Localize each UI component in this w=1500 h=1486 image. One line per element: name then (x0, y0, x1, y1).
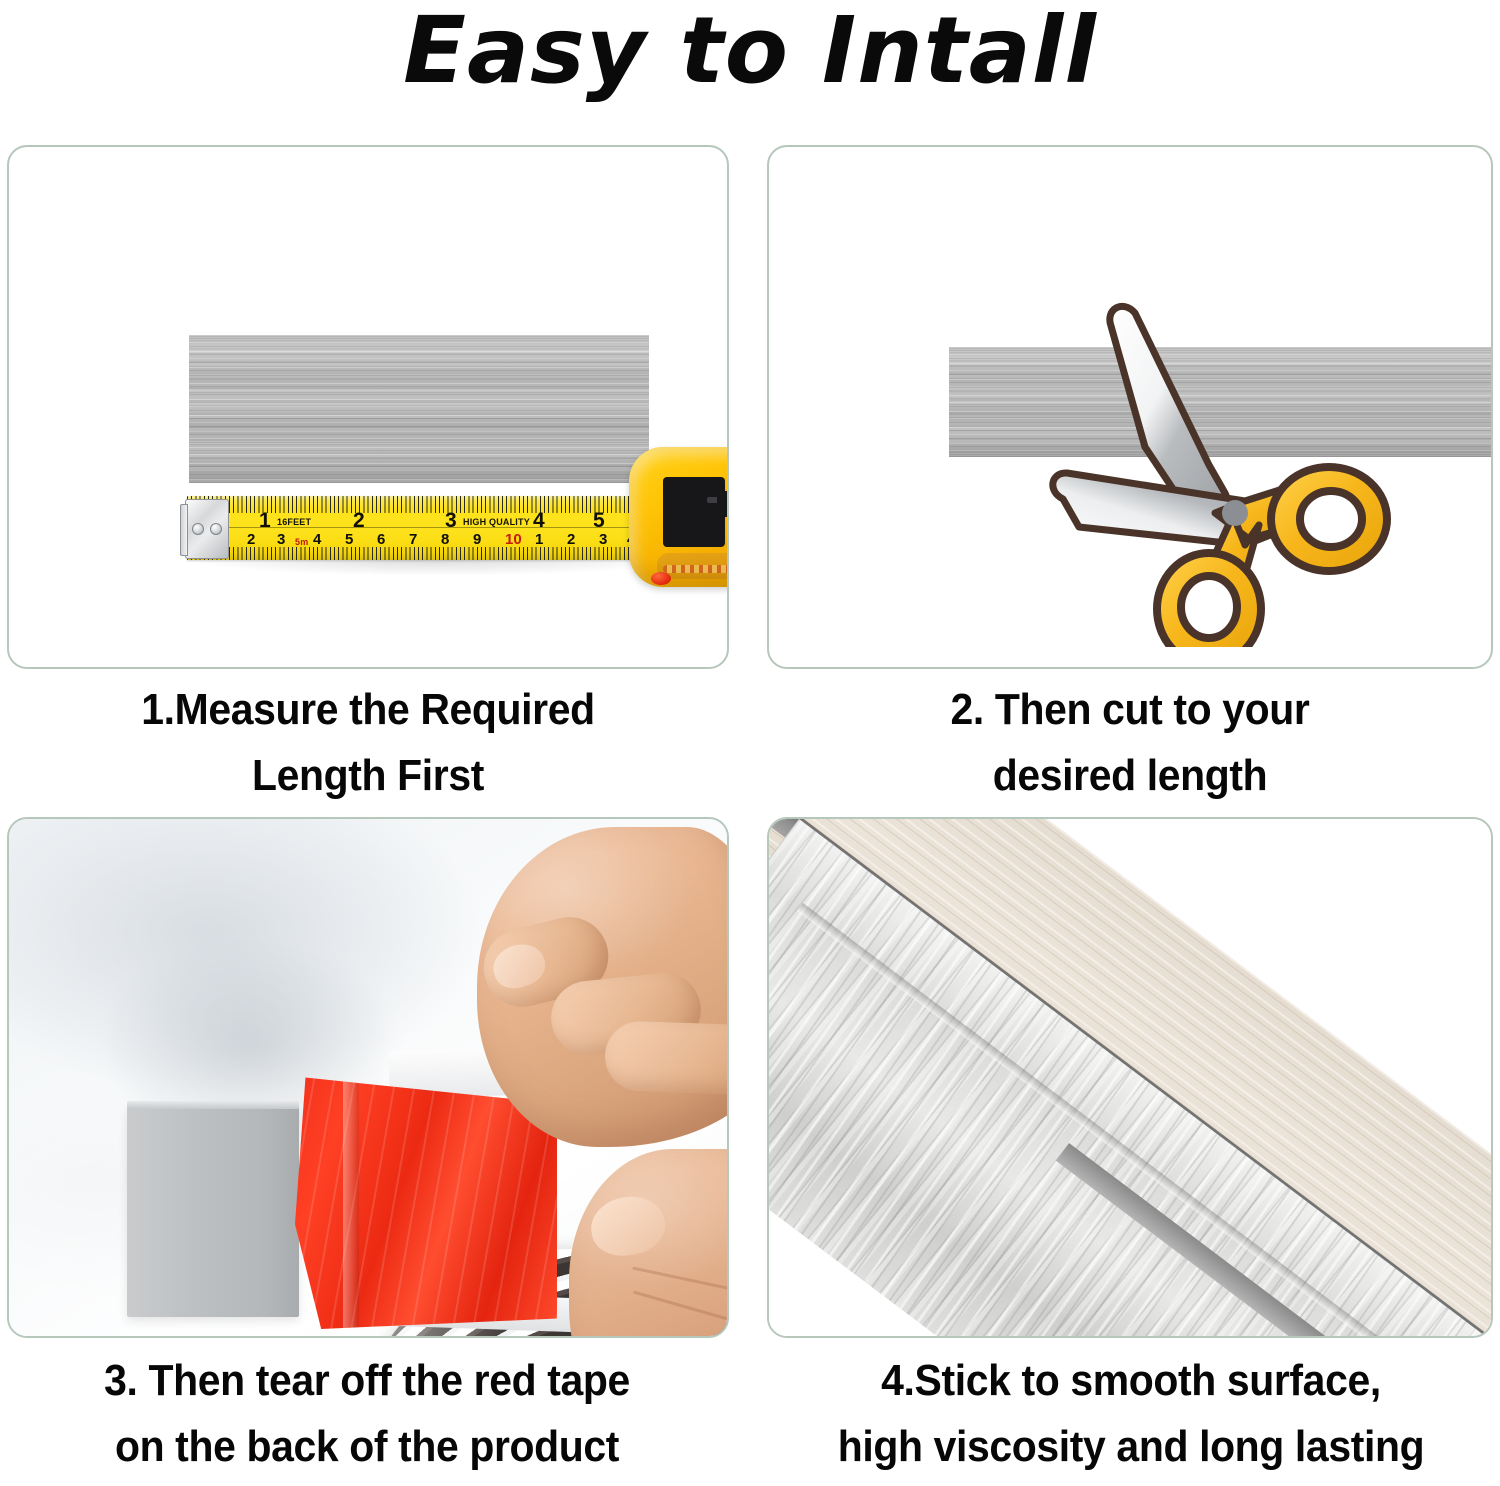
scissors-icon (1049, 287, 1399, 647)
step-4-caption-line-2: high viscosity and long lasting (793, 1414, 1468, 1480)
step-1-caption-line-2: Length First (35, 743, 701, 809)
inch-tick-3: 3 (445, 510, 457, 531)
strip-top-edge (127, 1101, 299, 1109)
thumbnail-lower (587, 1191, 670, 1261)
cm-tick-11: 1 (535, 532, 543, 547)
wood-grain-strip-1 (189, 335, 649, 483)
stick-step-panel (767, 817, 1493, 1338)
step-3-caption-line-1: 3. Then tear off the red tape (104, 1356, 630, 1405)
tape-lock-lever (663, 477, 725, 547)
cm-tick-12: 2 (567, 532, 575, 547)
hook-lip (180, 504, 188, 556)
cm-tick-9: 9 (473, 532, 481, 547)
hand-lower (569, 1149, 729, 1338)
lock-notch (707, 497, 729, 503)
inch-tick-1: 1 (259, 510, 271, 531)
cm-tick-10: 10 (505, 532, 522, 547)
step-2-caption: 2. Then cut to your desired length (795, 677, 1465, 809)
peel-photo (9, 819, 727, 1336)
step-4-caption: 4.Stick to smooth surface, high viscosit… (793, 1348, 1468, 1480)
step-2-caption-line-1: 2. Then cut to your (951, 685, 1310, 734)
inch-tick-4: 4 (533, 510, 545, 531)
step-4-caption-line-1: 4.Stick to smooth surface, (881, 1356, 1381, 1405)
hook-rivet-2 (210, 523, 222, 535)
cm-tick-7: 7 (409, 532, 417, 547)
liner-fold-crease (343, 1067, 359, 1329)
step-3-caption: 3. Then tear off the red tape on the bac… (33, 1348, 701, 1480)
tape-metric-label: 5m (295, 538, 308, 547)
step-1-caption-line-1: 1.Measure the Required (141, 685, 594, 734)
tape-measure-end-hook (185, 499, 229, 559)
cm-tick-4: 4 (313, 532, 321, 547)
cm-tick-8: 8 (441, 532, 449, 547)
tape-measure-housing (629, 447, 729, 587)
grey-adhesive-strip (127, 1107, 299, 1317)
hand-crease-2 (633, 1291, 729, 1327)
step-3-caption-line-2: on the back of the product (33, 1414, 701, 1480)
cm-tick-13: 3 (599, 532, 607, 547)
tape-brand-feet-label: 16FEET (277, 518, 311, 527)
stick-photo (769, 819, 1491, 1336)
housing-label-strip (663, 565, 729, 573)
measure-step-panel: 1 2 3 4 5 6 16FEET HIGH QUALITY 2 3 5m 4… (7, 145, 729, 669)
step-2-caption-line-2: desired length (795, 743, 1465, 809)
centimeter-scale-row: 2 3 5m 4 5 6 7 8 9 10 1 2 3 4 5 (187, 529, 657, 549)
tape-measure-blade: 1 2 3 4 5 6 16FEET HIGH QUALITY 2 3 5m 4… (187, 496, 657, 560)
infographic-page: Easy to Intall 1 2 3 4 5 6 16FEET HIGH Q… (0, 0, 1500, 1486)
inch-scale-row: 1 2 3 4 5 6 16FEET HIGH QUALITY (187, 510, 657, 530)
page-title: Easy to Intall (0, 0, 1500, 106)
cm-tick-5: 5 (345, 532, 353, 547)
finger-ring (604, 1020, 729, 1096)
peel-step-panel (7, 817, 729, 1338)
inch-tick-2: 2 (353, 510, 365, 531)
tape-brand-quality-label: HIGH QUALITY (463, 518, 530, 527)
hand-upper (477, 827, 729, 1147)
cm-tick-2: 2 (247, 532, 255, 547)
cm-tick-3: 3 (277, 532, 285, 547)
hook-rivet-1 (192, 523, 204, 535)
inch-tick-5: 5 (593, 510, 605, 531)
tape-drop-shadow (199, 559, 669, 575)
cut-step-panel (767, 145, 1493, 669)
tape-release-button (651, 572, 671, 585)
step-1-caption: 1.Measure the Required Length First (35, 677, 701, 809)
cm-tick-6: 6 (377, 532, 385, 547)
